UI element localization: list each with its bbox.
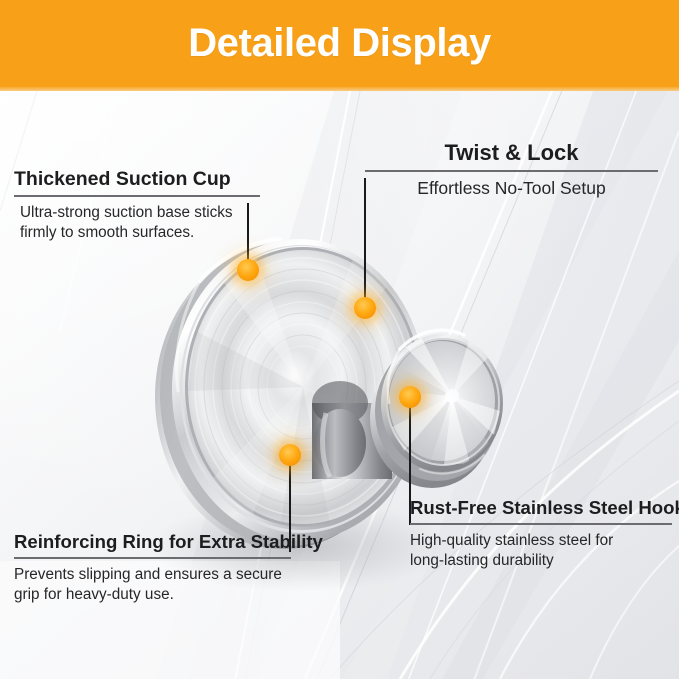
annotation-heading-suction-cup: Thickened Suction Cup: [14, 168, 260, 190]
page-title: Detailed Display: [0, 0, 679, 91]
annotation-heading-stainless-hooks: Rust-Free Stainless Steel Hooks: [410, 497, 672, 518]
annotation-description-stainless-hooks: High-quality stainless steel for long-la…: [410, 531, 672, 572]
marker-dot-stainless-hooks[interactable]: [399, 386, 421, 408]
annotation-description-reinforcing-ring: Prevents slipping and ensures a secure g…: [14, 565, 291, 606]
annotation-rule-suction-cup: [14, 195, 260, 197]
annotation-rule-twist-lock: [365, 170, 658, 172]
header-banner: Detailed Display: [0, 0, 679, 91]
annotation-twist-lock: Twist & Lock Effortless No-Tool Setup: [365, 140, 658, 200]
annotation-heading-reinforcing-ring: Reinforcing Ring for Extra Stability: [14, 531, 291, 552]
annotation-stainless-hooks: Rust-Free Stainless Steel Hooks High-qua…: [410, 497, 672, 572]
marker-dot-twist-lock[interactable]: [354, 297, 376, 319]
annotation-rule-stainless-hooks: [410, 523, 672, 525]
infographic-canvas: Detailed Display: [0, 0, 679, 679]
annotation-description-twist-lock: Effortless No-Tool Setup: [365, 177, 658, 200]
annotation-heading-twist-lock: Twist & Lock: [365, 140, 658, 165]
annotation-rule-reinforcing-ring: [14, 557, 291, 559]
annotation-reinforcing-ring: Reinforcing Ring for Extra Stability Pre…: [14, 531, 291, 606]
marker-dot-suction-cup[interactable]: [237, 259, 259, 281]
marker-dot-reinforcing-ring[interactable]: [279, 444, 301, 466]
annotation-suction-cup: Thickened Suction Cup Ultra-strong sucti…: [14, 168, 260, 244]
annotation-description-suction-cup: Ultra-strong suction base sticks firmly …: [14, 203, 260, 244]
